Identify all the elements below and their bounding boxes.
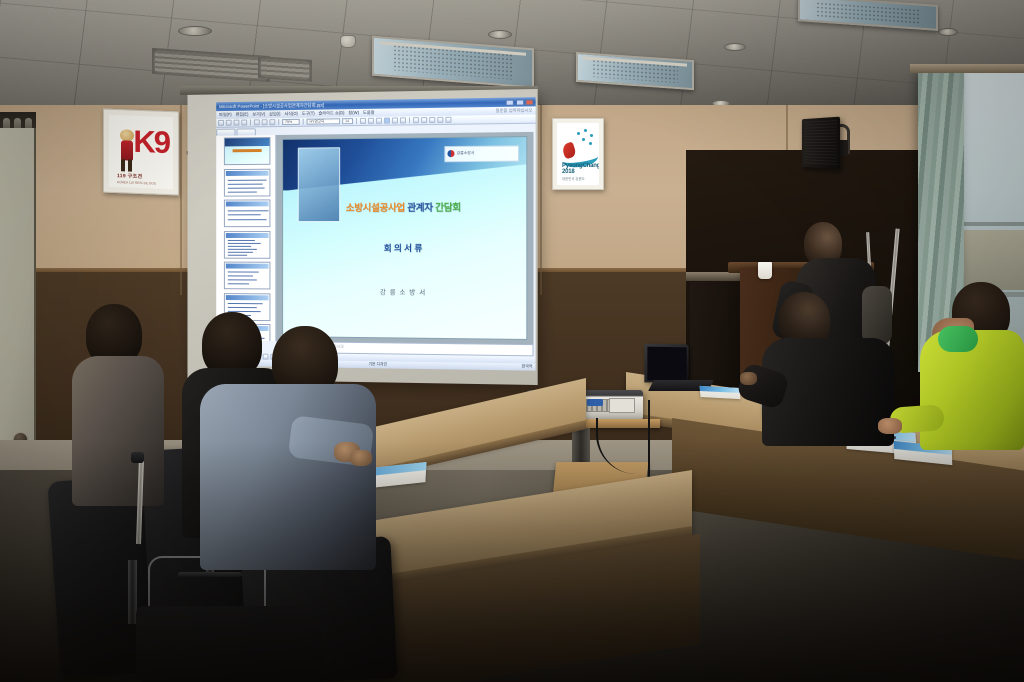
ceiling-downlight-5 bbox=[938, 28, 958, 36]
office-chair-3-seat bbox=[136, 606, 322, 682]
font-color-icon[interactable] bbox=[429, 117, 435, 123]
menu-item-window[interactable]: 창(W) bbox=[348, 110, 359, 116]
menu-item-file[interactable]: 파일(F) bbox=[219, 112, 232, 118]
slide-thumbnail[interactable]: 3 bbox=[224, 199, 270, 227]
font-name-combobox[interactable]: HY견고딕 bbox=[307, 118, 341, 124]
window-controls[interactable] bbox=[506, 99, 534, 106]
menu-item-insert[interactable]: 삽입(I) bbox=[269, 111, 280, 117]
zoom-combobox[interactable]: 75% bbox=[282, 119, 300, 125]
officer-seated-hand bbox=[740, 372, 757, 385]
cut-icon[interactable] bbox=[254, 119, 260, 125]
slide-title: 소방시설공사업 관계자 간담회 bbox=[283, 200, 526, 215]
menu-item-help[interactable]: 도움말 bbox=[363, 110, 375, 116]
align-left-icon[interactable] bbox=[384, 118, 390, 124]
poster-pyeongchang-2018: PyeongChang 2018 대한민국 강원도 bbox=[552, 118, 604, 190]
slide-thumbnail[interactable]: 5 bbox=[224, 262, 270, 290]
numbering-icon[interactable] bbox=[421, 117, 427, 123]
menu-item-slideshow[interactable]: 슬라이드 쇼(D) bbox=[319, 110, 345, 116]
slide-thumbnail-panel[interactable]: 1 2 3 bbox=[216, 135, 276, 341]
yellow-attendee-hand bbox=[878, 418, 902, 434]
ceiling-downlight-1 bbox=[178, 26, 212, 36]
wall-seam-2 bbox=[540, 105, 542, 295]
slide-thumbnail[interactable]: 1 bbox=[224, 137, 270, 165]
paper-cup bbox=[758, 262, 772, 279]
document-right-1 bbox=[700, 386, 741, 399]
underline-icon[interactable] bbox=[376, 118, 382, 124]
ask-a-question-box[interactable]: 질문을 입력하십시오 bbox=[496, 107, 533, 114]
paste-icon[interactable] bbox=[269, 119, 275, 125]
align-center-icon[interactable] bbox=[392, 117, 398, 123]
slide-subtitle: 회 의 서 류 bbox=[283, 242, 526, 254]
slide-thumbnail[interactable]: 2 bbox=[224, 168, 270, 196]
conference-room-photo: K9 119 구조견 KOREA 119 RESCUE DOG 소 Pyeong… bbox=[0, 0, 1024, 682]
new-icon[interactable] bbox=[218, 120, 224, 126]
projector-vga-port bbox=[587, 399, 603, 406]
poster-pyeongchang-sub: 대한민국 강원도 bbox=[562, 176, 585, 181]
menu-item-edit[interactable]: 편집(E) bbox=[236, 112, 249, 118]
slide-logo: 강릉소방서 bbox=[445, 145, 519, 162]
maximize-icon[interactable] bbox=[515, 99, 523, 105]
powerpoint-title-text: Microsoft PowerPoint - [소방시설공사업관계자간담회.pp… bbox=[219, 103, 324, 110]
slide-title-part3: 간담회 bbox=[435, 203, 461, 214]
window-outdoor-view bbox=[954, 230, 1024, 290]
new-slide-icon[interactable] bbox=[445, 117, 451, 123]
ceiling-downlight-3 bbox=[724, 43, 746, 51]
slide-title-part1: 소방시설공사업 bbox=[346, 203, 405, 214]
room-door[interactable] bbox=[0, 128, 36, 450]
yellow-attendee-collar bbox=[938, 326, 978, 352]
curtain-rod bbox=[910, 64, 1024, 73]
poster-k9-logo-text: K9 bbox=[133, 126, 169, 158]
slide-title-part2: 관계자 bbox=[407, 203, 433, 214]
wall-seam-1 bbox=[180, 105, 182, 295]
poster-k9-caption: 119 구조견 bbox=[117, 172, 142, 180]
menu-item-view[interactable]: 보기(V) bbox=[252, 111, 265, 117]
slide-logo-text: 강릉소방서 bbox=[457, 151, 475, 156]
minimize-icon[interactable] bbox=[506, 99, 514, 105]
attendee-right-hand-2 bbox=[350, 450, 372, 466]
poster-pyeongchang-name: PyeongChang 2018 bbox=[562, 163, 599, 175]
bold-icon[interactable] bbox=[360, 118, 366, 124]
officer-standing-bag bbox=[862, 286, 892, 344]
fire-department-mark-icon bbox=[448, 150, 455, 157]
cabinet-top bbox=[686, 272, 746, 281]
laptop-screen[interactable] bbox=[644, 344, 688, 383]
font-size-combobox[interactable]: 14 bbox=[342, 118, 353, 124]
print-icon[interactable] bbox=[241, 120, 247, 126]
poster-k9-rescue-dog: K9 119 구조견 KOREA 119 RESCUE DOG bbox=[103, 109, 179, 196]
rectangle-icon[interactable] bbox=[263, 353, 269, 359]
open-icon[interactable] bbox=[226, 120, 232, 126]
attendee-right-shirt bbox=[200, 384, 376, 570]
bullets-icon[interactable] bbox=[413, 117, 419, 123]
ceiling-downlight-2 bbox=[488, 30, 512, 39]
close-icon[interactable] bbox=[525, 99, 533, 105]
powerpoint-window[interactable]: Microsoft PowerPoint - [소방시설공사업관계자간담회.pp… bbox=[216, 97, 535, 371]
menu-item-format[interactable]: 서식(O) bbox=[284, 111, 297, 117]
italic-icon[interactable] bbox=[368, 118, 374, 124]
status-design-name: 기본 디자인 bbox=[369, 362, 388, 367]
align-right-icon[interactable] bbox=[400, 117, 406, 123]
wall-speaker bbox=[802, 117, 840, 170]
attendee-left-jacket bbox=[72, 356, 164, 506]
smoke-detector-icon bbox=[340, 35, 356, 48]
current-slide[interactable]: 강릉소방서 소방시설공사업 관계자 간담회 회 의 서 류 강 릉 소 방 서 bbox=[282, 136, 527, 340]
poster-k9-subcaption: KOREA 119 RESCUE DOG bbox=[117, 180, 156, 186]
slide-organization: 강 릉 소 방 서 bbox=[283, 285, 526, 297]
save-icon[interactable] bbox=[234, 120, 240, 126]
status-language: 한국어 bbox=[522, 364, 533, 369]
projector-side-panel bbox=[609, 398, 635, 413]
microphone-head bbox=[131, 452, 144, 463]
menu-item-tools[interactable]: 도구(T) bbox=[302, 111, 315, 117]
design-icon[interactable] bbox=[437, 117, 443, 123]
slide-editing-stage[interactable]: 강릉소방서 소방시설공사업 관계자 간담회 회 의 서 류 강 릉 소 방 서 bbox=[276, 132, 533, 344]
copy-icon[interactable] bbox=[262, 119, 268, 125]
slide-thumbnail[interactable]: 4 bbox=[224, 231, 270, 259]
ceiling-air-vent-left-2 bbox=[258, 56, 312, 82]
